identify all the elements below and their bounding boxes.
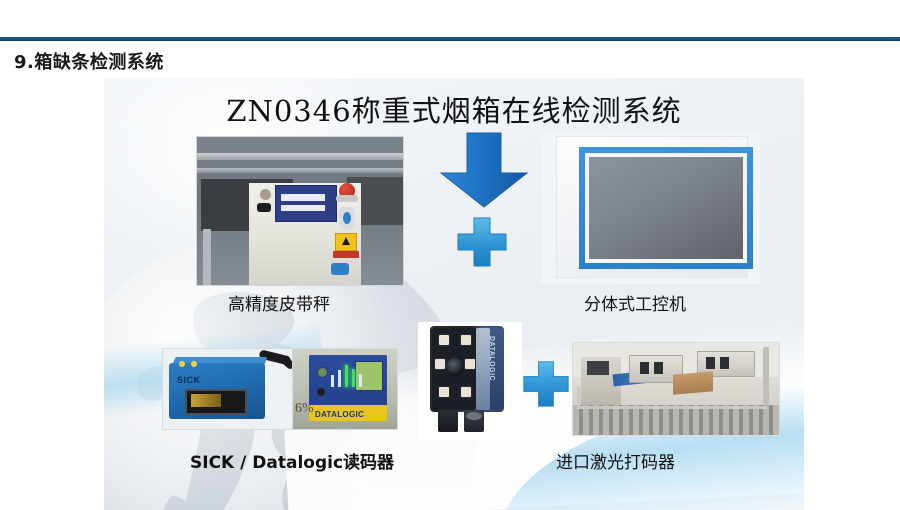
caption-belt-scale: 高精度皮带秤 — [228, 290, 330, 315]
page-title: 9.箱缺条检测系统 — [14, 48, 164, 74]
industrial-pc-photo — [542, 132, 760, 284]
sick-scanner-photo: SICK — [162, 348, 296, 430]
datalogic-brand-label: DATALOGIC — [315, 410, 364, 419]
percentage-overlay-label: 6% — [295, 401, 314, 417]
slide: 9.箱缺条检测系统 ZN0346称重式烟箱在线检测系统 — [0, 0, 900, 510]
plus-sign-icon-lower — [522, 360, 570, 408]
down-arrow-icon — [437, 131, 531, 209]
caption-code-reader: SICK / Datalogic读码器 — [190, 448, 394, 473]
belt-scale-photo — [196, 136, 404, 286]
plus-sign-icon-upper — [456, 216, 508, 268]
caption-laser-coder: 进口激光打码器 — [556, 448, 675, 473]
headline: ZN0346称重式烟箱在线检测系统 — [104, 88, 804, 130]
caption-industrial-pc: 分体式工控机 — [584, 290, 686, 315]
datalogic-device-photo: DATALOGIC 6% — [292, 348, 398, 430]
header-divider — [0, 37, 900, 41]
sick-brand-label: SICK — [177, 375, 201, 385]
datalogic-camera-photo: DATALOGIC — [418, 322, 522, 440]
datalogic-camera-brand-label: DATALOGIC — [488, 336, 495, 381]
laser-coder-photo — [572, 342, 780, 436]
